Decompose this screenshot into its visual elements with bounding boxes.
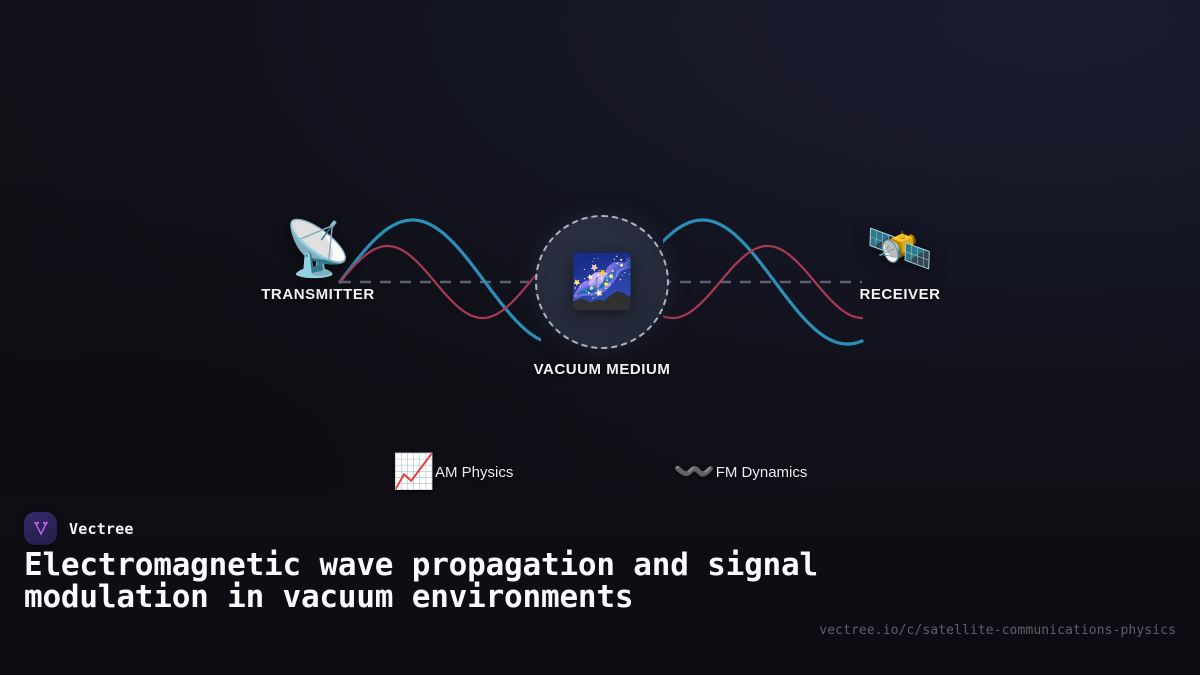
node-receiver-label: RECEIVER: [820, 286, 980, 303]
vacuum-medium-circle: 🌌: [535, 215, 669, 349]
legend-item-fm-dynamics-label: FM Dynamics: [716, 464, 808, 481]
vectree-logo-badge: [24, 512, 57, 545]
source-url: vectree.io/c/satellite-communications-ph…: [819, 623, 1176, 638]
node-receiver[interactable]: 🛰️ RECEIVER: [820, 222, 980, 303]
node-vacuum-medium-label: VACUUM MEDIUM: [502, 361, 702, 378]
legend: 📈 AM Physics 〰️ FM Dynamics: [0, 455, 1200, 489]
legend-item-am-physics[interactable]: 📈 AM Physics: [393, 455, 514, 489]
satellite-icon: 🛰️: [820, 222, 980, 276]
slide-canvas: 📡 TRANSMITTER 🌌 VACUUM MEDIUM 🛰️ RECEIVE…: [0, 0, 1200, 675]
page-title: Electromagnetic wave propagation and sig…: [24, 549, 834, 613]
legend-item-am-physics-label: AM Physics: [435, 464, 513, 481]
node-transmitter[interactable]: 📡 TRANSMITTER: [238, 222, 398, 303]
satellite-antenna-icon: 📡: [238, 222, 398, 276]
node-transmitter-label: TRANSMITTER: [238, 286, 398, 303]
milky-way-icon: 🌌: [570, 256, 635, 308]
brand-name: Vectree: [69, 520, 134, 538]
node-vacuum-medium[interactable]: 🌌 VACUUM MEDIUM: [502, 215, 702, 378]
wavy-dash-icon: 〰️: [673, 455, 715, 489]
brand-row[interactable]: Vectree: [24, 512, 134, 545]
legend-item-fm-dynamics[interactable]: 〰️ FM Dynamics: [673, 455, 807, 489]
chart-increasing-icon: 📈: [393, 455, 435, 489]
vectree-v-tree-logo-icon: [31, 519, 51, 539]
